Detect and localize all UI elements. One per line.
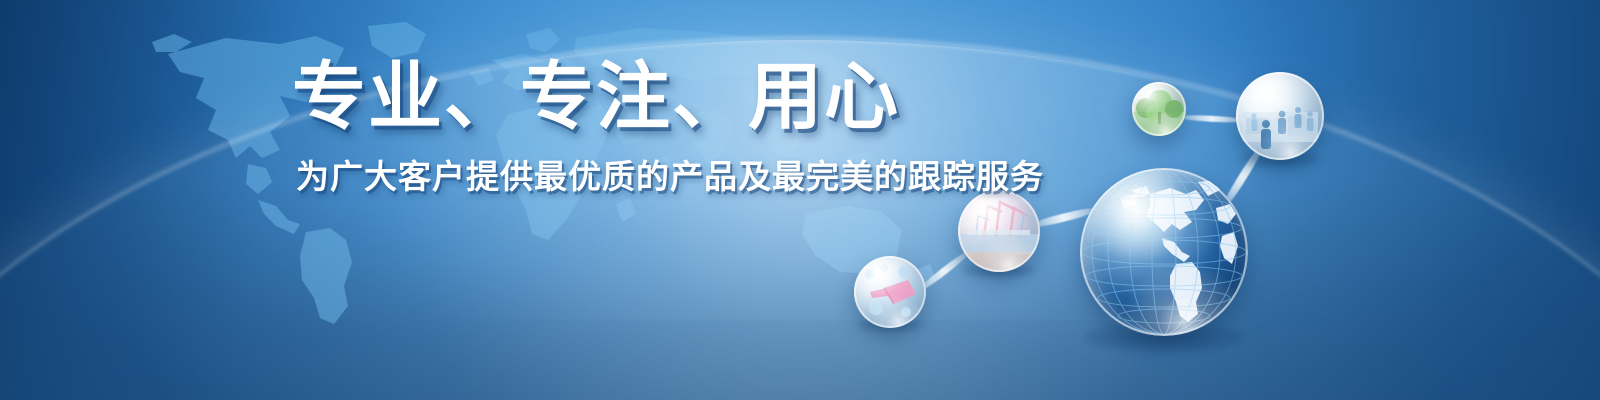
promotional-banner: 专业、专注、用心 为广大客户提供最优质的产品及最完美的跟踪服务: [0, 0, 1600, 400]
banner-subheadline: 为广大客户提供最优质的产品及最完美的跟踪服务: [296, 150, 1044, 198]
banner-text-block: 专业、专注、用心 为广大客户提供最优质的产品及最完美的跟踪服务: [292, 58, 1044, 198]
banner-headline: 专业、专注、用心: [292, 58, 1044, 138]
